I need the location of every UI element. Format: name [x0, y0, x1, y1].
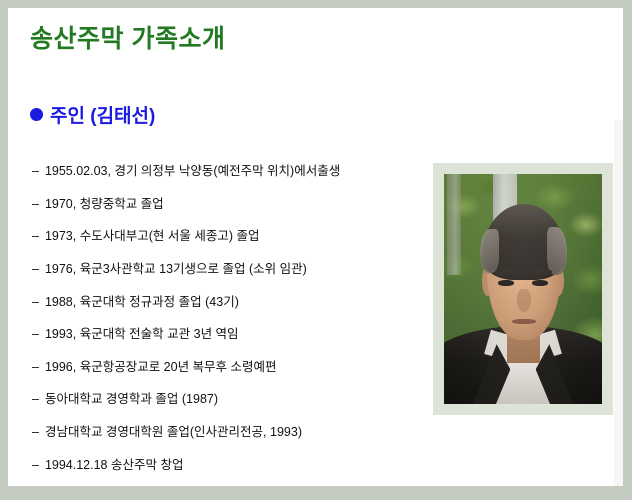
list-item-label: 1988, 육군대학 정규과정 졸업 (43기): [45, 295, 239, 311]
dash-marker: –: [32, 425, 39, 441]
dash-marker: –: [32, 197, 39, 213]
list-item-label: 1976, 육군3사관학교 13기생으로 졸업 (소위 임관): [45, 262, 307, 278]
list-item-label: 경남대학교 경영대학원 졸업(인사관리전공, 1993): [45, 425, 302, 441]
list-item: – 경남대학교 경영대학원 졸업(인사관리전공, 1993): [32, 425, 422, 441]
list-item: – 1994.12.18 송산주막 창업: [32, 458, 422, 474]
section-heading-label: 주인 (김태선): [50, 101, 155, 128]
right-gutter-strip: [614, 120, 623, 486]
list-item-label: 1994.12.18 송산주막 창업: [45, 458, 184, 474]
eye-right: [532, 280, 548, 286]
hair-grey-left: [480, 229, 499, 273]
mouth: [512, 319, 536, 325]
page-root: 송산주막 가족소개 주인 (김태선) – 1955.02.03, 경기 의정부 …: [0, 0, 632, 500]
background-post-far: [447, 174, 461, 275]
list-item: – 1955.02.03, 경기 의정부 낙양동(예전주막 위치)에서출생: [32, 164, 422, 180]
dash-marker: –: [32, 262, 39, 278]
dash-marker: –: [32, 458, 39, 474]
list-item-label: 1955.02.03, 경기 의정부 낙양동(예전주막 위치)에서출생: [45, 164, 340, 180]
list-item: – 동아대학교 경영학과 졸업 (1987): [32, 392, 422, 408]
list-item: – 1993, 육군대학 전술학 교관 3년 역임: [32, 327, 422, 343]
dash-marker: –: [32, 327, 39, 343]
dash-marker: –: [32, 295, 39, 311]
list-item: – 1970, 청량중학교 졸업: [32, 197, 422, 213]
biography-list: – 1955.02.03, 경기 의정부 낙양동(예전주막 위치)에서출생 – …: [32, 164, 422, 486]
portrait-photo-frame: [433, 163, 613, 415]
list-item: – 1976, 육군3사관학교 13기생으로 졸업 (소위 임관): [32, 262, 422, 278]
content-sheet: 송산주막 가족소개 주인 (김태선) – 1955.02.03, 경기 의정부 …: [8, 8, 623, 486]
list-item: – 1988, 육군대학 정규과정 졸업 (43기): [32, 295, 422, 311]
page-title: 송산주막 가족소개: [30, 24, 225, 54]
list-item-label: 1970, 청량중학교 졸업: [45, 197, 164, 213]
section-heading: 주인 (김태선): [30, 101, 155, 128]
eye-left: [498, 280, 514, 286]
dash-marker: –: [32, 164, 39, 180]
nose: [517, 289, 531, 312]
list-item-label: 1996, 육군항공장교로 20년 복무후 소령예편: [45, 360, 277, 376]
list-item: – 1996, 육군항공장교로 20년 복무후 소령예편: [32, 360, 422, 376]
dash-marker: –: [32, 360, 39, 376]
list-item-label: 1973, 수도사대부고(현 서울 세종고) 졸업: [45, 229, 260, 245]
list-item-label: 1993, 육군대학 전술학 교관 3년 역임: [45, 327, 239, 343]
dash-marker: –: [32, 392, 39, 408]
dash-marker: –: [32, 229, 39, 245]
portrait-photo: [444, 174, 602, 404]
filled-circle-bullet-icon: [30, 108, 43, 121]
list-item-label: 동아대학교 경영학과 졸업 (1987): [45, 392, 218, 408]
list-item: – 1973, 수도사대부고(현 서울 세종고) 졸업: [32, 229, 422, 245]
